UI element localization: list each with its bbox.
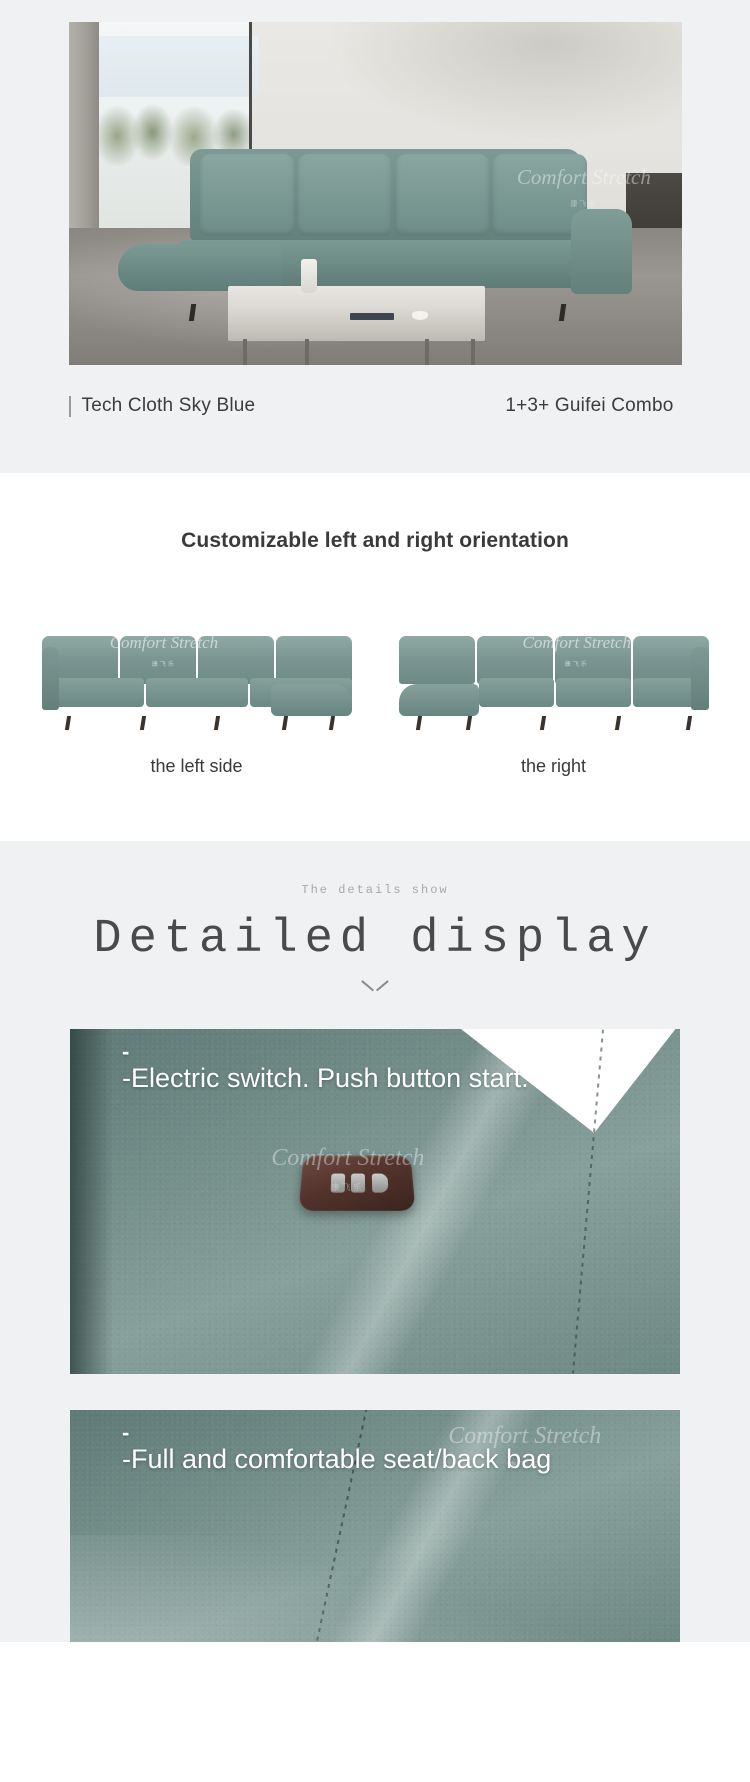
mini-seat-segment bbox=[146, 678, 248, 707]
orientation-option-left[interactable]: Comfort Stretch 康飞乐 the left side bbox=[42, 615, 352, 777]
mini-leg bbox=[329, 716, 335, 730]
table-leg bbox=[305, 339, 309, 365]
mini-sofa: Comfort Stretch 康飞乐 bbox=[399, 615, 709, 720]
decor-book bbox=[350, 313, 394, 320]
table-leg bbox=[471, 339, 475, 365]
mini-chaise bbox=[271, 684, 352, 716]
orientation-label-left: the left side bbox=[42, 756, 352, 777]
sofa-back-cushion bbox=[200, 154, 294, 236]
mini-leg bbox=[416, 716, 422, 730]
mini-leg bbox=[140, 716, 146, 730]
sofa-thumbnail-right: Comfort Stretch 康飞乐 bbox=[399, 615, 709, 720]
orientation-section: Customizable left and right orientation bbox=[0, 473, 750, 841]
fabric-color-label: Tech Cloth Sky Blue bbox=[82, 395, 256, 417]
details-title: Detailed display bbox=[0, 913, 750, 966]
chevron-down-icon bbox=[362, 980, 388, 993]
mini-leg bbox=[282, 716, 288, 730]
mini-seat-segment bbox=[479, 678, 554, 707]
orientation-title: Customizable left and right orientation bbox=[0, 529, 750, 553]
mini-leg bbox=[65, 716, 71, 730]
mini-chaise bbox=[399, 684, 480, 716]
switch-button bbox=[371, 1173, 388, 1192]
mini-leg bbox=[540, 716, 546, 730]
product-detail-page: Comfort Stretch 康飞乐 Tech Cloth Sky Blue … bbox=[0, 0, 750, 1642]
hero-product-photo: Comfort Stretch 康飞乐 bbox=[69, 22, 682, 365]
caption-accent-bar bbox=[69, 396, 71, 417]
mini-leg bbox=[466, 716, 472, 730]
sofa-thumbnail-left: Comfort Stretch 康飞乐 bbox=[42, 615, 352, 720]
mini-leg bbox=[686, 716, 692, 730]
hero-section: Comfort Stretch 康飞乐 Tech Cloth Sky Blue … bbox=[0, 0, 750, 473]
sofa-chaise bbox=[118, 244, 283, 291]
sofa-arm-right bbox=[571, 209, 633, 294]
caption-text: -Full and comfortable seat/back bag bbox=[122, 1443, 551, 1477]
sofa-back-cushion bbox=[396, 154, 490, 236]
hero-sofa-illustration bbox=[118, 149, 633, 307]
caption-text: -Electric switch. Push button start. bbox=[122, 1062, 529, 1096]
detail-photo-seat-back-bag: Comfort Stretch 康飞乐 - -Full and comforta… bbox=[70, 1410, 680, 1642]
mini-arm-left bbox=[42, 647, 59, 710]
mini-seat-segment bbox=[556, 678, 631, 707]
details-kicker: The details show bbox=[0, 883, 750, 897]
electric-switch-control bbox=[298, 1156, 415, 1211]
photo-shadow-edge bbox=[70, 1029, 113, 1374]
hero-caption-row: Tech Cloth Sky Blue 1+3+ Guifei Combo bbox=[69, 395, 682, 417]
caption-dash: - bbox=[122, 1424, 551, 1443]
mini-seat-row bbox=[479, 678, 708, 707]
detail-photo-caption: - -Full and comfortable seat/back bag bbox=[122, 1424, 551, 1476]
details-section: The details show Detailed display Comfor… bbox=[0, 841, 750, 1642]
sofa-back-cushion bbox=[298, 154, 392, 236]
decor-vase bbox=[301, 259, 317, 293]
switch-button bbox=[330, 1173, 345, 1192]
window-frame-left bbox=[69, 22, 100, 255]
orientation-options: Comfort Stretch 康飞乐 the left side bbox=[0, 615, 750, 777]
switch-button bbox=[351, 1173, 365, 1192]
table-leg bbox=[243, 339, 247, 365]
mini-leg bbox=[614, 716, 620, 730]
table-leg bbox=[425, 339, 429, 365]
hero-caption-left: Tech Cloth Sky Blue bbox=[69, 395, 256, 417]
mini-leg bbox=[214, 716, 220, 730]
leather-fold-highlight bbox=[70, 1535, 680, 1642]
combo-label: 1+3+ Guifei Combo bbox=[505, 395, 681, 417]
window-sky bbox=[93, 36, 259, 98]
detail-photo-caption: - -Electric switch. Push button start. bbox=[122, 1043, 529, 1095]
mini-sofa: Comfort Stretch 康飞乐 bbox=[42, 615, 352, 720]
caption-dash: - bbox=[122, 1043, 529, 1062]
orientation-label-right: the right bbox=[399, 756, 709, 777]
mini-arm-right bbox=[691, 647, 708, 710]
mini-back-segment bbox=[399, 636, 475, 684]
detail-photo-electric-switch: Comfort Stretch 康飞乐 - -Electric switch. … bbox=[70, 1029, 680, 1374]
orientation-option-right[interactable]: Comfort Stretch 康飞乐 the right bbox=[399, 615, 709, 777]
